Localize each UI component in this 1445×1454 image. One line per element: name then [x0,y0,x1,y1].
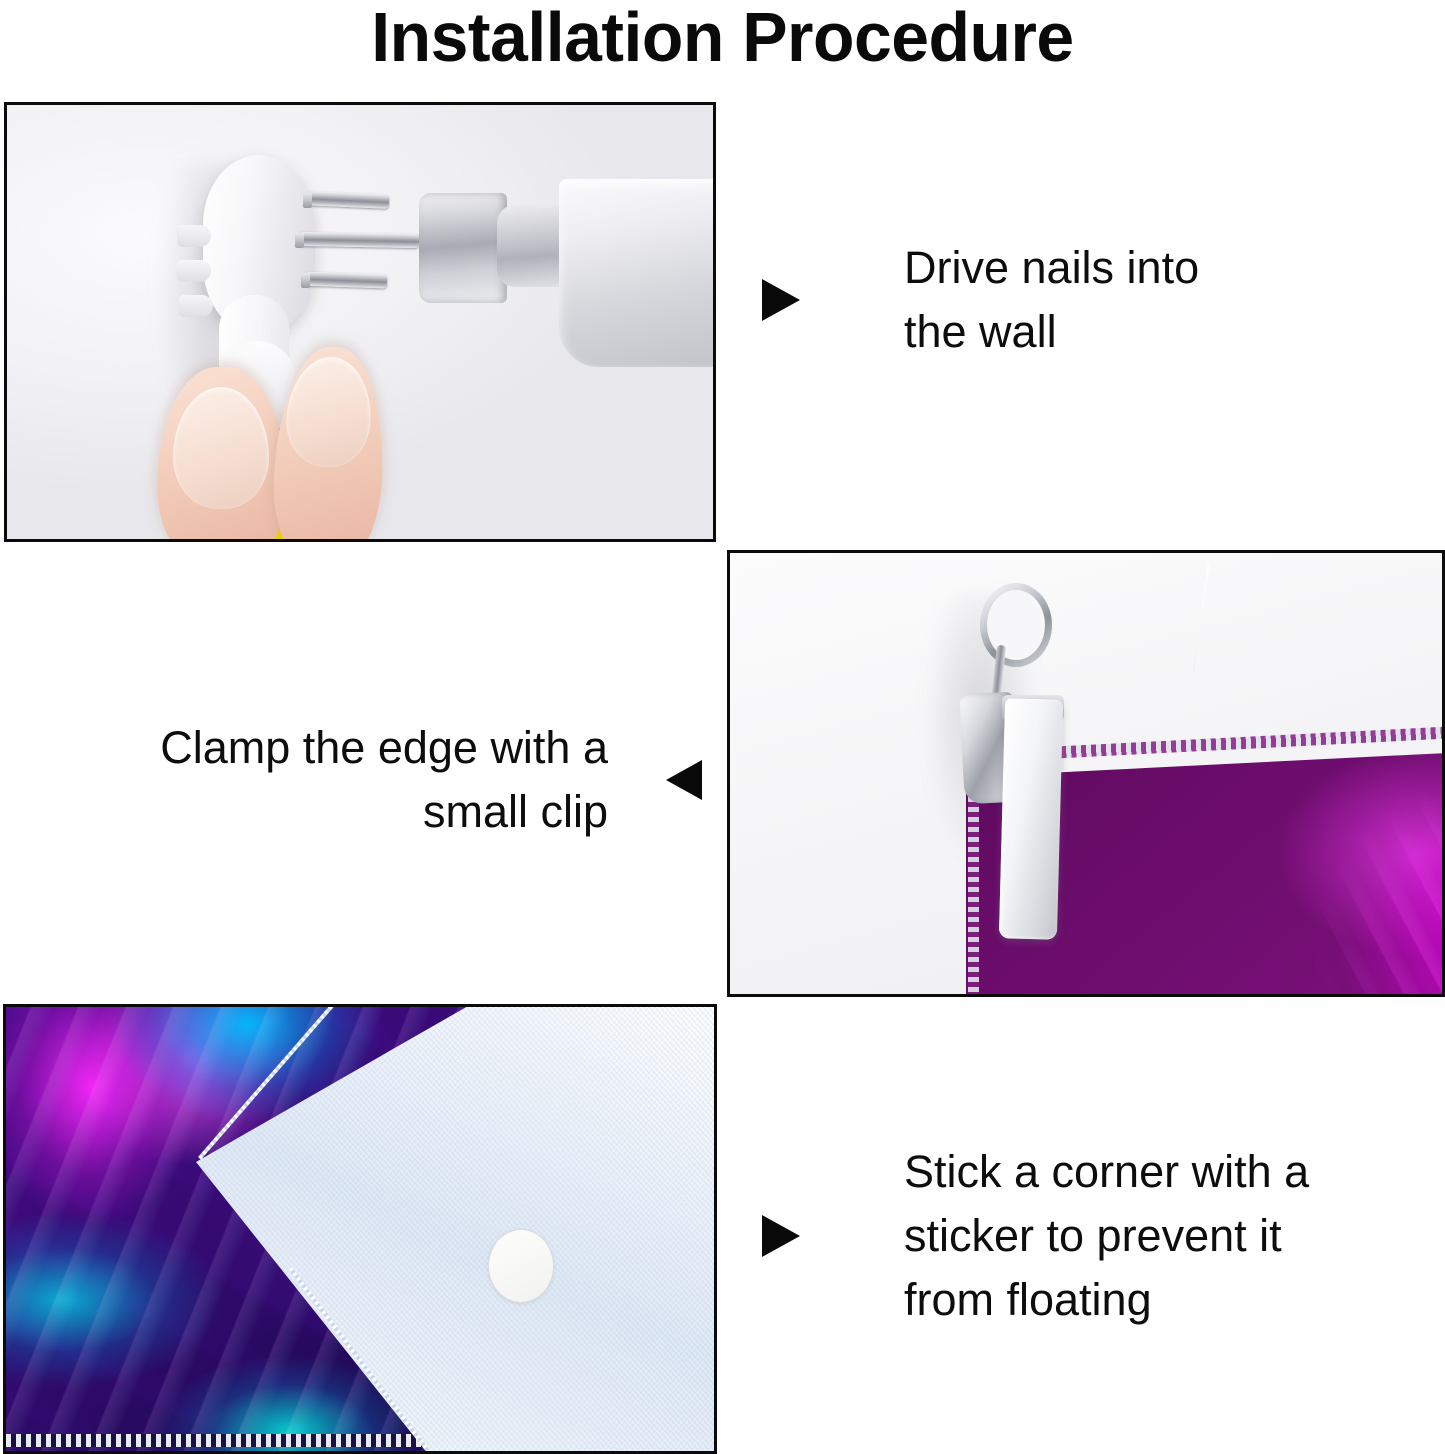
step-3-label: Stick a corner with a sticker to prevent… [904,1140,1309,1332]
triangle-right-icon [762,279,800,321]
hammer-head [559,179,713,367]
step-1-label: Drive nails into the wall [904,236,1199,364]
photo-clamp-clip-content [730,553,1442,994]
nail-pin [305,272,387,289]
step-2: Clamp the edge with a small clip [82,716,702,844]
photo-sticker-corner-content [6,1007,714,1451]
photo-drive-nails-content [7,105,713,539]
triangle-right-icon [762,1215,800,1257]
step-3: Stick a corner with a sticker to prevent… [762,1140,1342,1332]
photo-sticker-corner [3,1004,717,1454]
hammer-face [419,193,507,303]
hook-ridge [177,260,211,282]
hook-ridge [177,225,211,247]
hammer [419,175,713,375]
triangle-left-icon [666,760,702,800]
installation-procedure-page: Installation Procedure [0,0,1445,1454]
photo-clamp-clip [727,550,1445,997]
step-1: Drive nails into the wall [762,236,1232,364]
nail-pin-head [303,193,312,208]
nail-pin-head [295,233,304,248]
clip-hanging-ring [980,583,1052,667]
photo-drive-nails [4,102,716,542]
nail-pin [299,232,419,248]
nail-pin-head [301,273,310,288]
step-2-label: Clamp the edge with a small clip [160,716,608,844]
tapestry-hem-left [968,777,979,994]
page-title: Installation Procedure [22,0,1424,76]
hook-ridge [179,295,213,317]
adhesive-sticker [488,1229,554,1303]
clip-lever [999,698,1063,939]
